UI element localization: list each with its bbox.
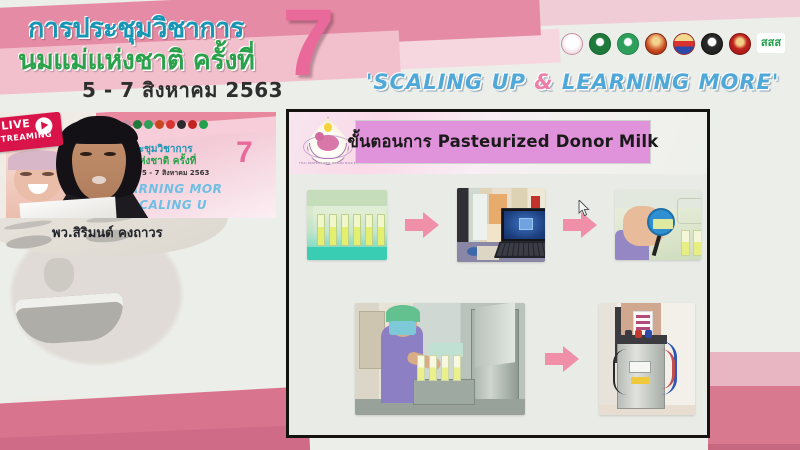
arrow-tip [563,346,579,372]
shot3-bottle [681,230,690,256]
shot2-paper [473,194,487,240]
logo-disc [589,33,611,55]
logo-thaihealth-icon: สสส [756,33,786,59]
right-pink-band-dark [708,444,800,450]
arrow-shaft [545,353,565,365]
shot4-surgical-cap [386,305,420,322]
shot1-bottle [317,214,325,246]
step-temperature-probe-check-photo [615,190,701,260]
shot4-machine-lid [475,303,515,368]
baby-head-icon [315,132,324,141]
shot1-bottle [377,214,385,246]
shot4-bottle [441,355,449,381]
logo-thai-breastfeeding-foundation-icon [560,33,584,59]
child-eye-left [20,172,32,176]
shot3-wire-rack [677,198,701,224]
speaker-eye-left [80,152,92,156]
partner-logos-strip: สสส [560,26,796,66]
shot2-screen-window [519,218,533,230]
shot2-laptop-screen [501,208,545,242]
poster-logo-5 [166,120,175,129]
poster-logo-4 [155,120,164,129]
slide-title-banner: ขั้นตอนการ Pasteurized Donor Milk [355,120,651,164]
edition-number: 7 [282,0,335,91]
shot5-yellow-label [631,377,649,384]
shot1-bottle [341,214,349,246]
logo-disc [617,33,639,55]
shot5-knob-blue [645,330,652,338]
speaker-eye-right [104,152,116,156]
logo-royal-college-icon [644,33,668,59]
shot4-tray [413,379,475,405]
presentation-slide-panel[interactable]: THAI PASTEURIZED HUMAN MILK BANK ขั้นตอน… [286,109,710,438]
logo-disc [673,33,695,55]
slide-header: THAI PASTEURIZED HUMAN MILK BANK ขั้นตอน… [289,112,707,174]
live-badge-word: LIVE [1,117,31,133]
shot3-thermometer-gauge [647,208,675,236]
speaker-name-label: พว.สิริมนต์ คงถาวร [52,222,163,243]
step-bottles-on-trolley-photo [307,190,387,260]
shot5-knob-red [635,330,642,338]
slogan-prefix: 'SCALING UP [366,70,534,94]
process-arrow-1-icon [405,212,439,238]
shot2-laptop-keyboard [494,242,545,258]
shot4-bottle [429,355,437,381]
shot5-sign-lines [636,315,650,318]
logo-royal-emblem-icon [672,33,696,59]
live-video-feed[interactable]: การประชุมวิชาการ นมแม่แห่งชาติ ครั้งที่ … [0,112,276,218]
shot5-power-cord [613,349,627,395]
conference-slogan: 'SCALING UP & LEARNING MORE' [366,70,779,94]
logo-department-health-green-icon [616,33,640,59]
logo-caption: THAI PASTEURIZED HUMAN MILK BANK [299,161,357,165]
shot3-bottle [693,230,701,256]
step-nurse-loading-bottles-photo [355,303,525,415]
poster-logo-6 [177,120,186,129]
shot1-floor [307,247,387,260]
process-row-top [303,186,701,264]
shot1-bottle [329,214,337,246]
step-laptop-record-data-photo [457,188,545,262]
logo-disc [701,33,723,55]
mouse-pointer [578,200,590,217]
conference-header: 7 การประชุมวิชาการ นมแม่แห่งชาติ ครั้งที… [0,0,800,107]
shot2-red-item [531,196,540,208]
logo-red-seal-icon [728,33,752,59]
logo-disc [561,33,583,55]
process-arrow-3-icon [545,346,579,372]
slide-title-text: ขั้นตอนการ Pasteurized Donor Milk [348,129,659,155]
speaker-bangs [60,118,138,144]
arrow-shaft [405,219,425,231]
poster-logo-7 [188,120,197,129]
poster-logo-8 [199,120,208,129]
slogan-suffix: LEARNING MORE' [554,70,780,94]
arrow-shaft [563,219,583,231]
watermark-nose [44,258,74,292]
slide-screenshot: 7 การประชุมวิชาการ นมแม่แห่งชาติ ครั้งที… [0,0,800,450]
shot3-gauge-display [653,219,673,229]
shot1-bottle [353,214,361,246]
milk-droplet-icon [324,123,332,132]
logo-thaihealth-text: สสส [757,33,785,53]
arrow-tip [423,212,439,238]
poster-edition-number: 7 [236,138,253,168]
shot4-bottle [453,355,461,381]
slogan-ampersand: & [534,70,553,94]
step-pasteurizer-machine-photo [599,303,695,415]
right-pink-band-light [708,352,800,386]
right-pink-band-mid [708,386,800,450]
shot5-control-panel [629,361,651,373]
shot4-bottle [417,355,425,381]
process-row-bottom [303,304,701,414]
speaker-mouth [92,176,106,184]
logo-disc [645,33,667,55]
shot5-knob-black [625,330,632,338]
logo-ministry-public-health-green-icon [588,33,612,59]
logo-mahidol-university-icon [700,33,724,59]
shot4-face-mask [389,321,416,335]
shot1-wall [307,190,387,206]
conference-date: 5 - 7 สิงหาคม 2563 [82,74,283,106]
logo-disc [729,33,751,55]
shot1-bottle [365,214,373,246]
